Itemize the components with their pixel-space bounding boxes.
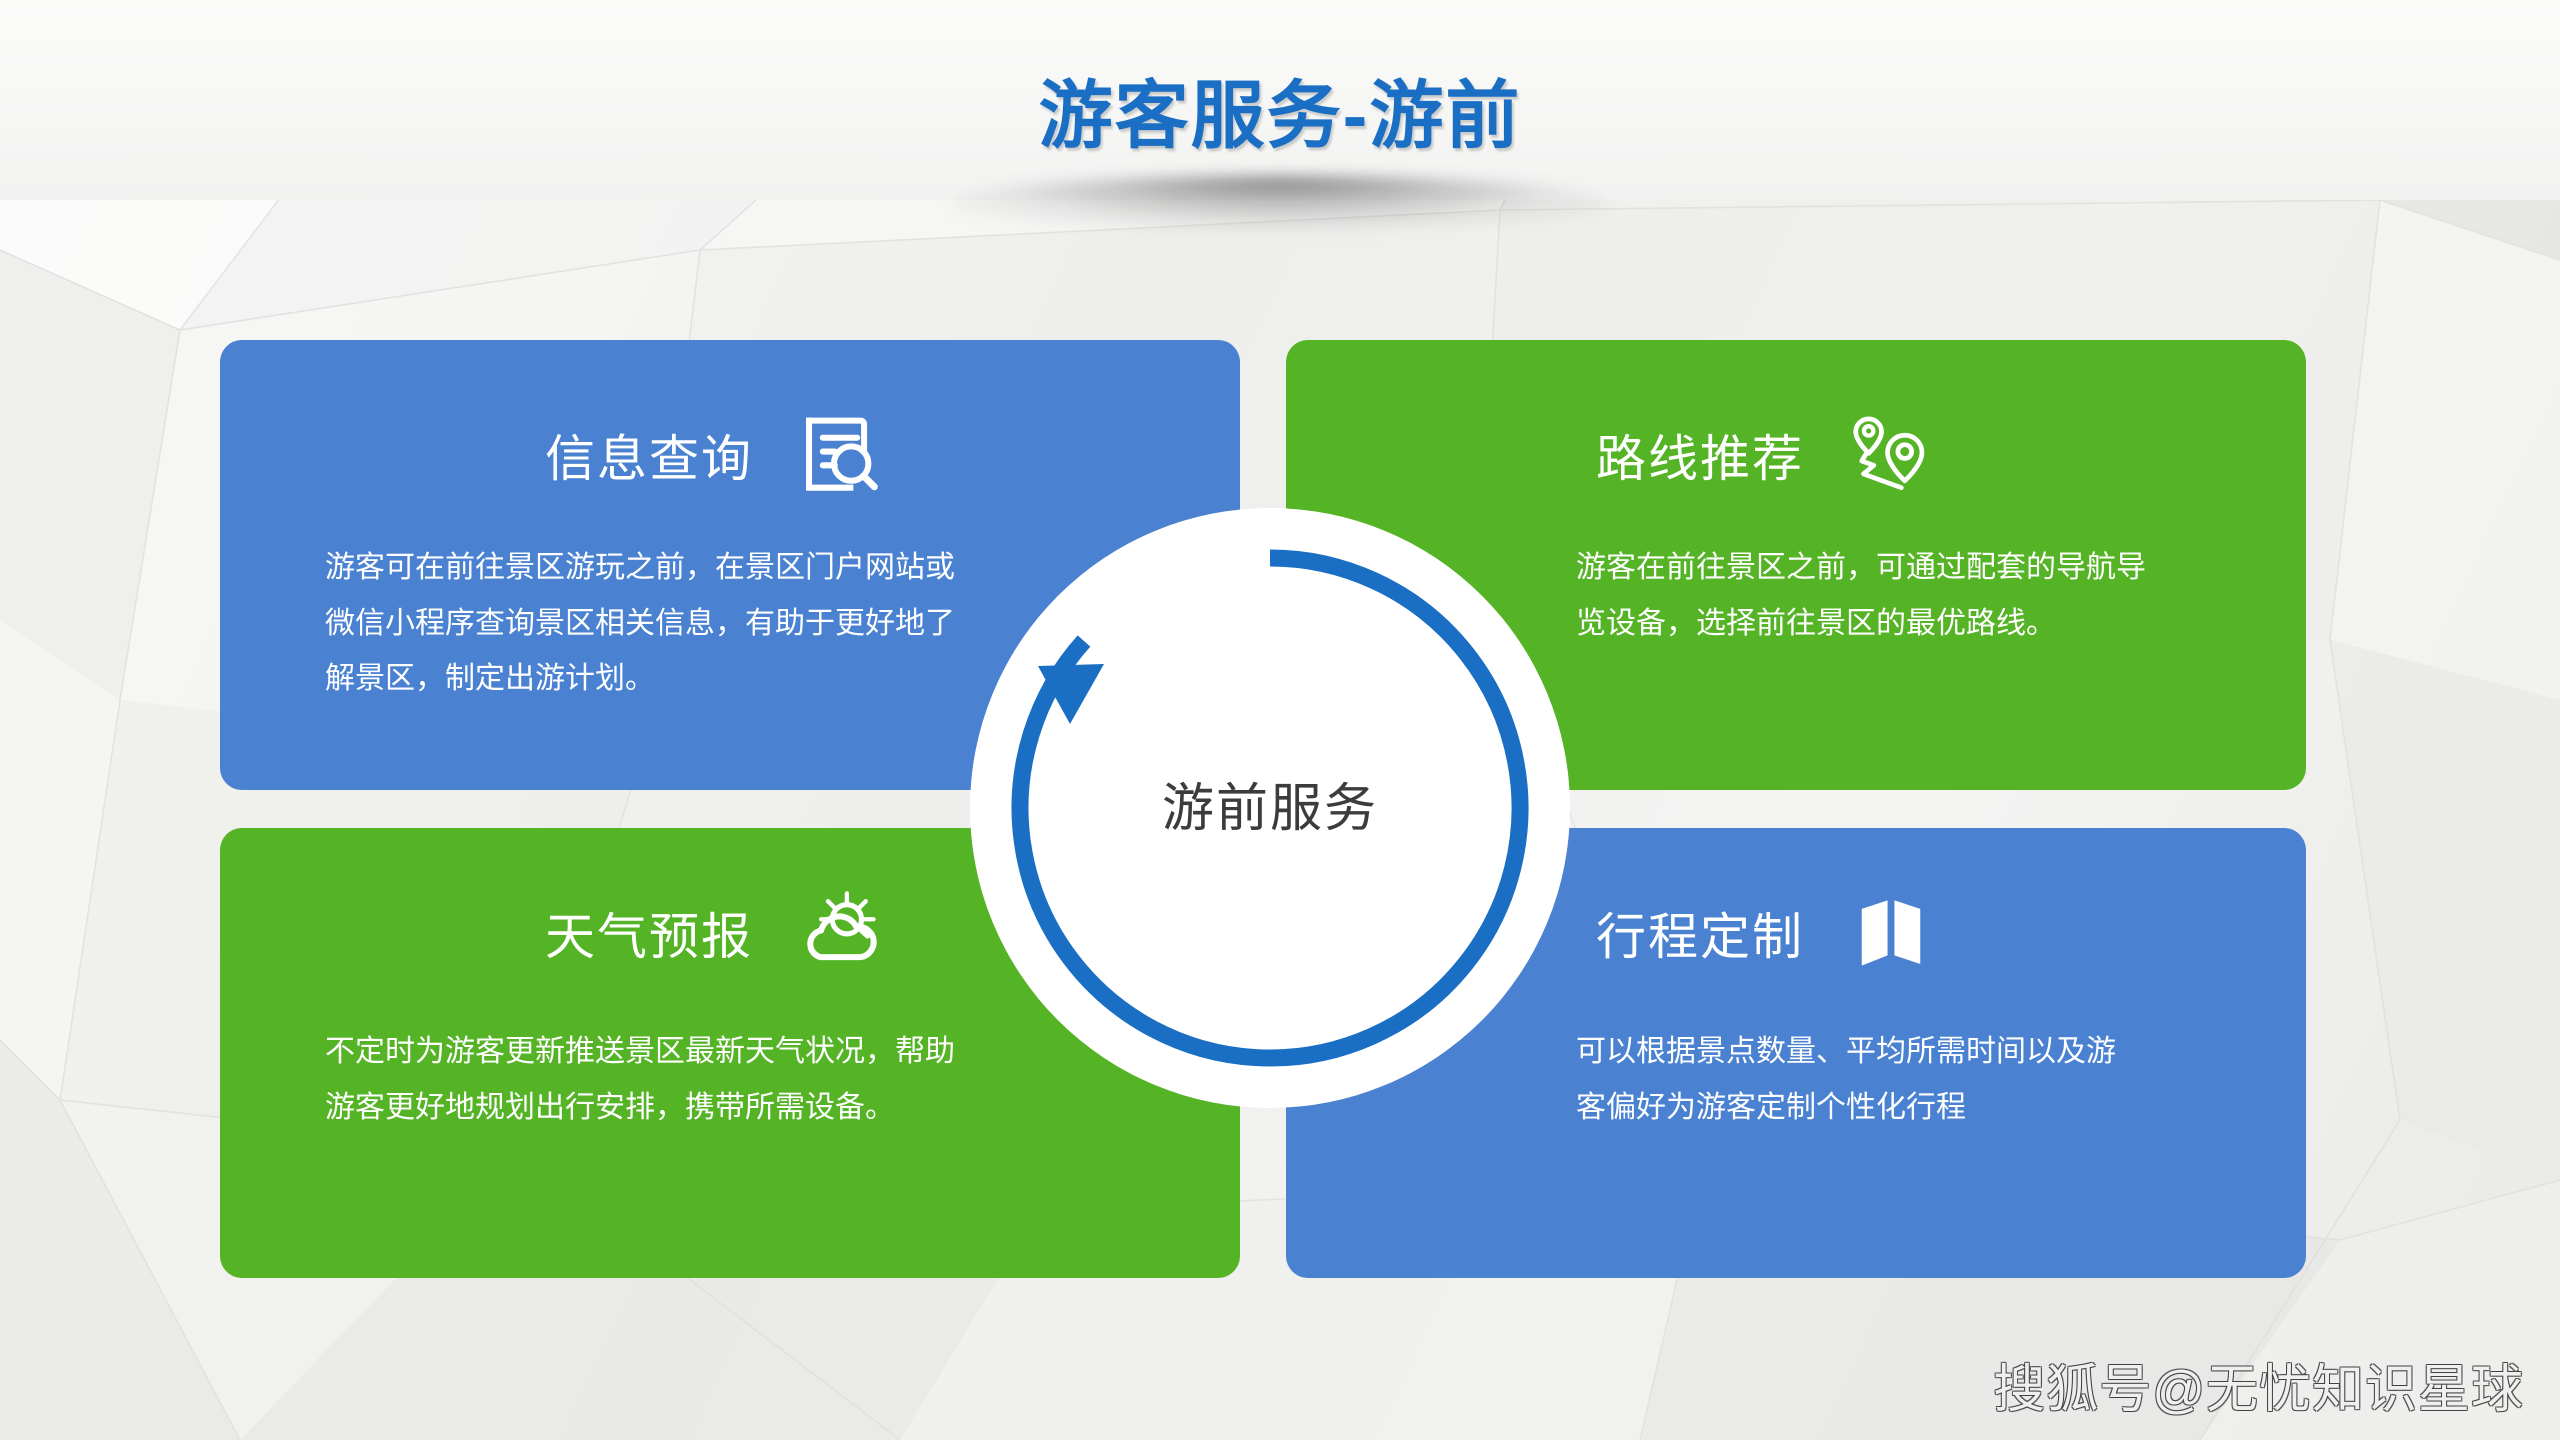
route-pins-icon bbox=[1848, 412, 1934, 498]
card-title: 信息查询 bbox=[545, 419, 753, 491]
center-hub: 游前服务 bbox=[960, 498, 1580, 1118]
folded-map-icon bbox=[1848, 890, 1934, 976]
card-header: 行程定制 bbox=[1596, 890, 1934, 976]
watermark: 搜狐号@无忧知识星球 bbox=[1993, 1347, 2524, 1422]
card-header: 路线推荐 bbox=[1596, 412, 1934, 498]
card-title: 天气预报 bbox=[545, 897, 753, 969]
sun-cloud-icon bbox=[797, 890, 883, 976]
page-title: 游客服务-游前 bbox=[0, 56, 2560, 163]
card-title: 行程定制 bbox=[1596, 897, 1804, 969]
card-title: 路线推荐 bbox=[1596, 419, 1804, 491]
hub-label: 游前服务 bbox=[960, 766, 1580, 841]
card-header: 信息查询 bbox=[545, 412, 883, 498]
document-search-icon bbox=[797, 412, 883, 498]
card-description: 游客在前往景区之前，可通过配套的导航导 览设备，选择前往景区的最优路线。 bbox=[1576, 540, 2276, 651]
card-header: 天气预报 bbox=[545, 890, 883, 976]
slide-canvas: 游客服务-游前 信息查询 游客可在前往景区游玩之前，在景区门户网站或 微信小程序… bbox=[0, 0, 2560, 1440]
card-description: 可以根据景点数量、平均所需时间以及游 客偏好为游客定制个性化行程 bbox=[1576, 1024, 2256, 1135]
